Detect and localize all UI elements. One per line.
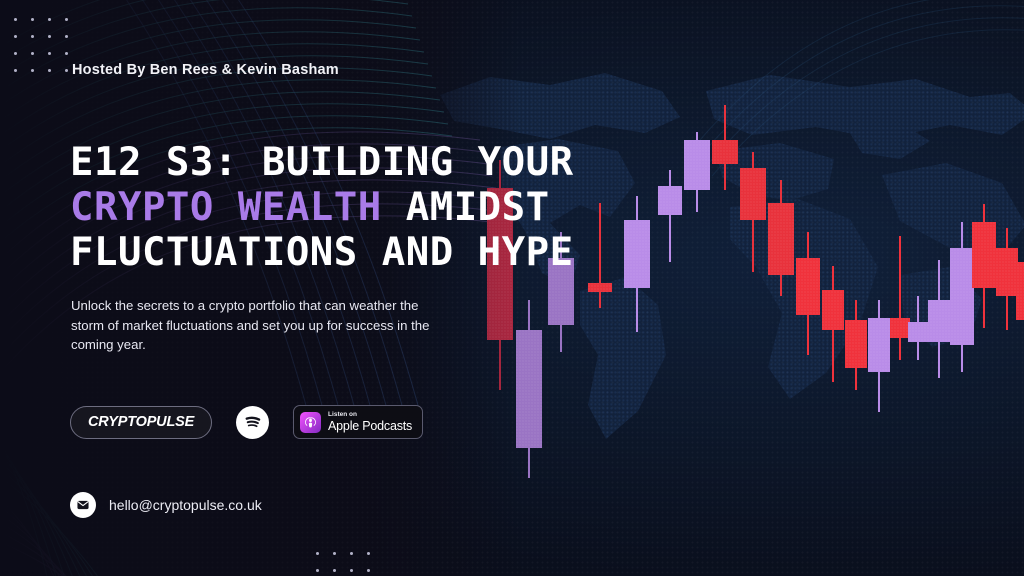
envelope-icon (70, 492, 96, 518)
contact-email-row[interactable]: hello@cryptopulse.co.uk (70, 492, 262, 518)
grid-dot (350, 552, 353, 555)
grid-dot (14, 52, 17, 55)
grid-dot (65, 52, 68, 55)
hosted-by-label: Hosted By Ben Rees & Kevin Basham (72, 62, 339, 78)
grid-dot (333, 552, 336, 555)
grid-dot (48, 18, 51, 21)
spotify-icon[interactable] (236, 406, 269, 439)
apple-podcasts-text: Listen on Apple Podcasts (328, 412, 412, 433)
title-line-3: FLUCTUATIONS AND HYPE (70, 230, 690, 275)
grid-dot (14, 18, 17, 21)
grid-dot (48, 69, 51, 72)
grid-dot (316, 569, 319, 572)
contact-email-text: hello@cryptopulse.co.uk (109, 497, 262, 513)
dot-grid-bottom-center (316, 552, 370, 572)
apple-listen-on-label: Listen on (328, 412, 412, 419)
grid-dot (65, 18, 68, 21)
apple-podcasts-icon (300, 412, 321, 433)
grid-dot (65, 35, 68, 38)
badge-row: CRYPTOPULSE (70, 405, 423, 439)
grid-dot (316, 552, 319, 555)
grid-dot (367, 569, 370, 572)
dot-grid-top-left (14, 18, 68, 72)
title-line-2-rest: AMIDST (382, 185, 550, 230)
cryptopulse-brand-label: CRYPTOPULSE (88, 414, 194, 430)
episode-description: Unlock the secrets to a crypto portfolio… (71, 296, 451, 355)
grid-dot (14, 69, 17, 72)
title-accent-text: CRYPTO WEALTH (70, 185, 382, 230)
cryptopulse-brand-badge[interactable]: CRYPTOPULSE (70, 406, 212, 439)
grid-dot (31, 52, 34, 55)
grid-dot (333, 569, 336, 572)
episode-title: E12 S3: BUILDING YOUR CRYPTO WEALTH AMID… (70, 140, 690, 275)
grid-dot (350, 569, 353, 572)
grid-dot (14, 35, 17, 38)
apple-podcasts-label: Apple Podcasts (328, 420, 412, 433)
grid-dot (367, 552, 370, 555)
grid-dot (31, 69, 34, 72)
grid-dot (65, 69, 68, 72)
title-line-2: CRYPTO WEALTH AMIDST (70, 185, 690, 230)
grid-dot (31, 35, 34, 38)
grid-dot (48, 52, 51, 55)
grid-dot (31, 18, 34, 21)
grid-dot (48, 35, 51, 38)
apple-podcasts-badge[interactable]: Listen on Apple Podcasts (293, 405, 423, 439)
title-line-1: E12 S3: BUILDING YOUR (70, 140, 690, 185)
podcast-episode-banner: Hosted By Ben Rees & Kevin Basham E12 S3… (0, 0, 1024, 576)
